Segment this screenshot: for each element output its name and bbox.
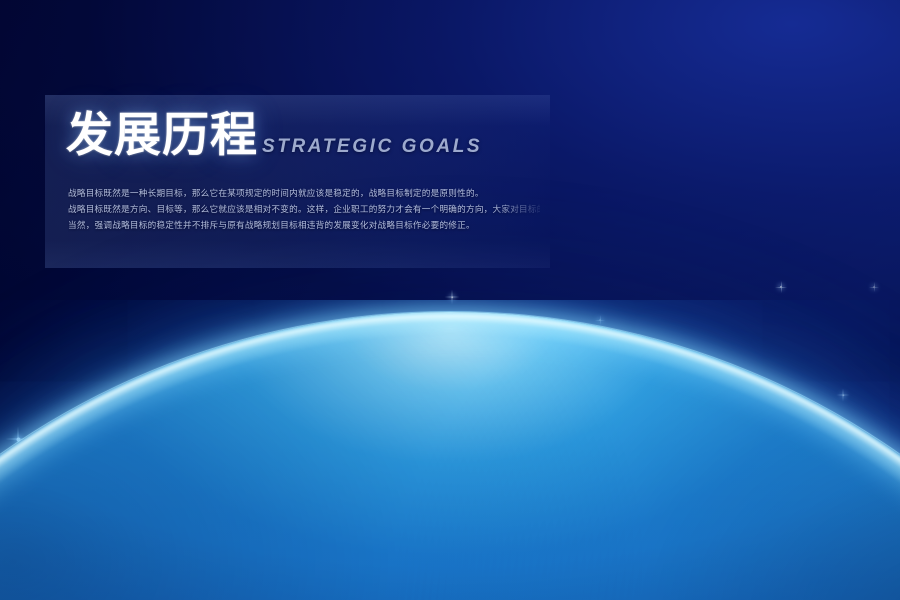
space-background — [0, 0, 900, 600]
body-copy: 战略目标既然是一种长期目标，那么它在某项规定的时间内就应该是稳定的，战略目标制定… — [68, 186, 540, 235]
page-title: 发展历程 — [66, 112, 258, 161]
body-line: 战略目标既然是一种长期目标，那么它在某项规定的时间内就应该是稳定的，战略目标制定… — [68, 186, 540, 202]
body-line: 当然，强调战略目标的稳定性并不排斥与原有战略规划目标相违背的发展变化对战略目标作… — [68, 218, 540, 234]
headline-group: 发展历程 STRATEGIC GOALS — [66, 112, 482, 161]
body-line: 战略目标既然是方向、目标等，那么它就应该是相对不变的。这样，企业职工的努力才会有… — [68, 202, 540, 218]
page-subtitle: STRATEGIC GOALS — [262, 136, 482, 161]
banner-stage: 发展历程 STRATEGIC GOALS 战略目标既然是一种长期目标，那么它在某… — [0, 0, 900, 600]
